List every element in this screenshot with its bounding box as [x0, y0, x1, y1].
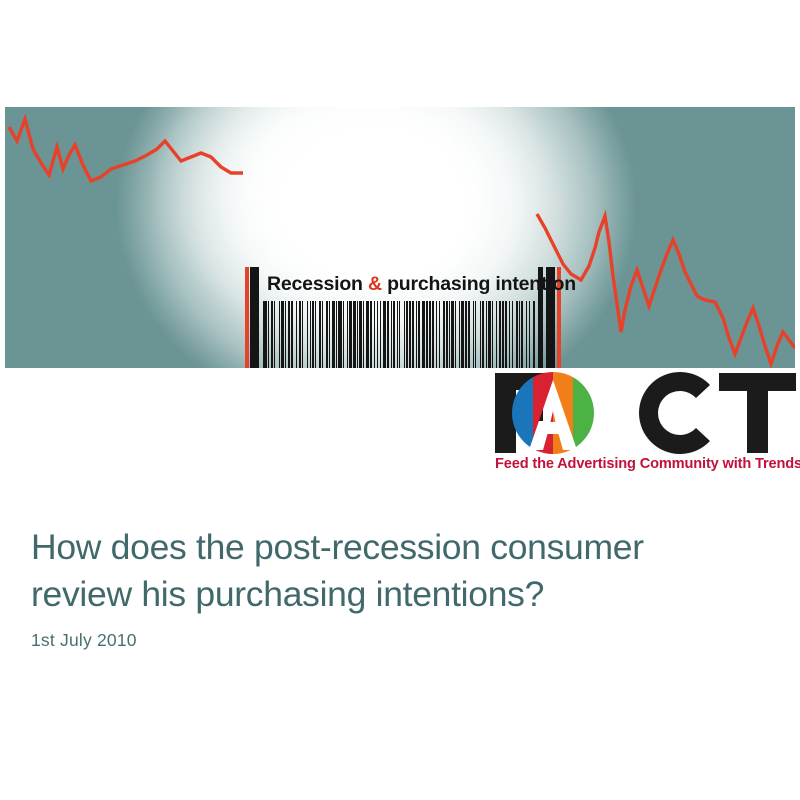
- a-segment-orange: [553, 372, 573, 454]
- barcode-title: Recession & purchasing intention: [267, 275, 576, 295]
- barcode-graphic: Recession & purchasing intention: [245, 267, 561, 368]
- barcode-title-ampersand: &: [368, 273, 382, 295]
- page-title: How does the post-recession consumer rev…: [31, 524, 771, 618]
- page-title-line-2: review his purchasing intentions?: [31, 574, 544, 614]
- fact-logo: Feed the Advertising Community with Tren…: [493, 372, 798, 480]
- fact-logo-letter-t: [719, 373, 796, 453]
- a-segment-green: [573, 372, 595, 454]
- barcode-bars: [263, 301, 535, 368]
- a-segment-red: [533, 372, 553, 454]
- barcode-title-prefix: Recession: [267, 273, 368, 295]
- barcode-left-guard-bar: [250, 267, 259, 368]
- page-title-line-1: How does the post-recession consumer: [31, 527, 644, 567]
- barcode-title-suffix: purchasing intention: [382, 273, 576, 295]
- slide-canvas: Recession & purchasing intention: [0, 0, 800, 800]
- title-banner-image: Recession & purchasing intention: [5, 107, 795, 368]
- fact-logo-letter-a-circle: [512, 372, 595, 454]
- fact-logo-tagline: Feed the Advertising Community with Tren…: [495, 456, 800, 472]
- fact-logo-letter-c: [639, 372, 710, 454]
- fact-logo-wordmark: [493, 372, 798, 454]
- barcode-left-red-edge: [245, 267, 249, 368]
- presentation-date: 1st July 2010: [31, 630, 137, 651]
